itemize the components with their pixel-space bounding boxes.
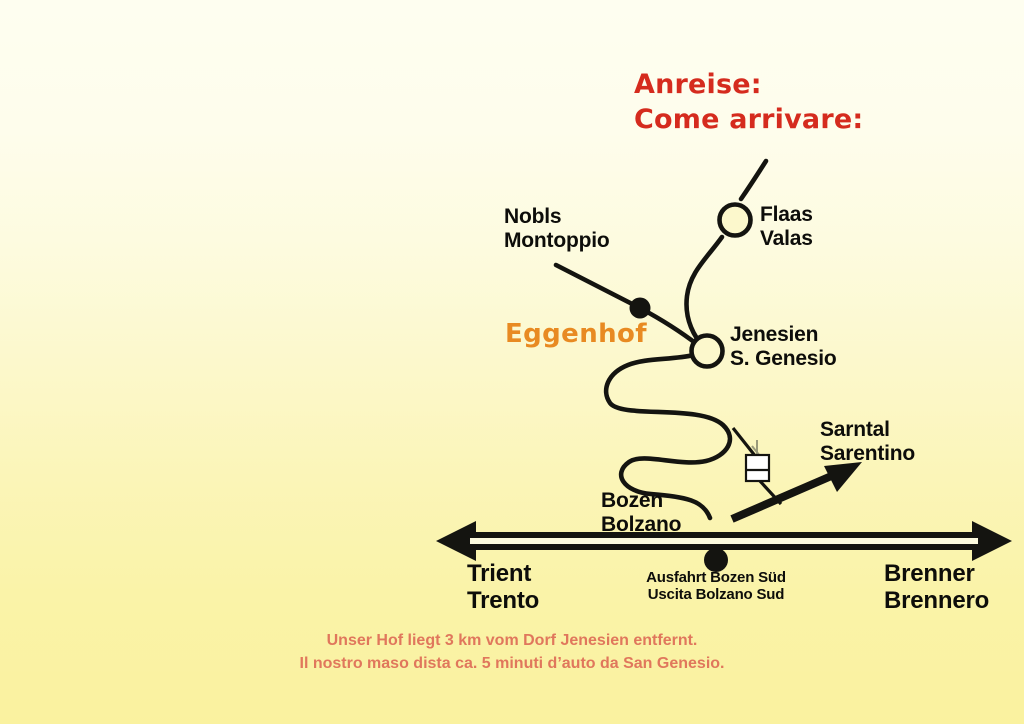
label-flaas-line1: Flaas bbox=[760, 203, 813, 226]
label-bozen-line2: Bolzano bbox=[601, 513, 681, 536]
label-jenesien-line1: Jenesien bbox=[730, 323, 818, 346]
label-nobls-line2: Montoppio bbox=[504, 229, 610, 252]
junction-jenesien-circle bbox=[692, 336, 723, 367]
eggenhof-marker-dot bbox=[630, 298, 651, 319]
label-brenner-line1: Brenner bbox=[884, 560, 975, 587]
label-motorway-exit: Ausfahrt Bozen Süd Uscita Bolzano Sud bbox=[600, 570, 832, 604]
footer-line-italian: Il nostro maso dista ca. 5 minuti d’auto… bbox=[300, 655, 725, 672]
road-flaas-to-jenesien bbox=[686, 237, 722, 347]
label-trient: Trient Trento bbox=[467, 561, 539, 615]
junction-flaas-circle bbox=[720, 205, 751, 236]
label-flaas: Flaas Valas bbox=[760, 203, 813, 250]
directions-map-page: Anreise: Come arrivare: Eggenhof Nobls M… bbox=[0, 0, 1024, 724]
label-trient-line1: Trient bbox=[467, 560, 531, 587]
label-flaas-line2: Valas bbox=[760, 227, 813, 250]
cable-car-icon bbox=[733, 428, 781, 504]
label-brenner-line2: Brennero bbox=[884, 587, 989, 614]
page-title: Anreise: Come arrivare: bbox=[634, 68, 863, 137]
label-trient-line2: Trento bbox=[467, 587, 539, 614]
footer-line-german: Unser Hof liegt 3 km vom Dorf Jenesien e… bbox=[327, 632, 698, 649]
road-north-to-flaas bbox=[741, 161, 766, 199]
title-line-german: Anreise: bbox=[634, 69, 762, 100]
map-graphics bbox=[0, 0, 1024, 724]
label-jenesien-line2: S. Genesio bbox=[730, 347, 837, 370]
label-nobls-line1: Nobls bbox=[504, 205, 561, 228]
label-bozen-line1: Bozen bbox=[601, 489, 663, 512]
footer-note: Unser Hof liegt 3 km vom Dorf Jenesien e… bbox=[0, 629, 1024, 675]
label-sarntal: Sarntal Sarentino bbox=[820, 418, 915, 465]
title-line-italian: Come arrivare: bbox=[634, 104, 863, 135]
label-sarntal-line2: Sarentino bbox=[820, 442, 915, 465]
label-brenner: Brenner Brennero bbox=[884, 561, 989, 615]
label-jenesien: Jenesien S. Genesio bbox=[730, 323, 837, 370]
eggenhof-label: Eggenhof bbox=[505, 319, 647, 349]
label-motorway-exit-line2: Uscita Bolzano Sud bbox=[648, 586, 784, 603]
label-sarntal-line1: Sarntal bbox=[820, 418, 890, 441]
label-motorway-exit-line1: Ausfahrt Bozen Süd bbox=[646, 569, 786, 586]
label-bozen: Bozen Bolzano bbox=[601, 489, 681, 536]
label-nobls: Nobls Montoppio bbox=[504, 205, 610, 252]
